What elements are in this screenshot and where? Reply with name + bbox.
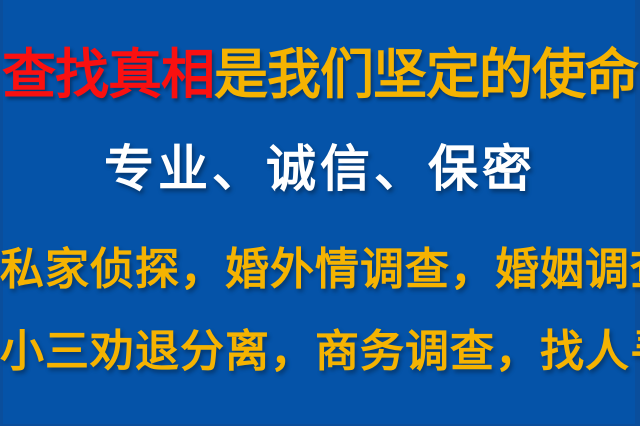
core-values-line: 专业、诚信、保密	[0, 144, 640, 194]
headline: 查找真相是我们坚定的使命	[0, 48, 640, 102]
headline-emphasis: 查找真相	[2, 43, 214, 106]
headline-remainder: 是我们坚定的使命	[214, 43, 638, 106]
services-line-1: 私家侦探，婚外情调查，婚姻调查，	[0, 248, 640, 292]
services-line-2: 小三劝退分离，商务调查，找人寻人	[0, 330, 640, 374]
advertisement-banner: 查找真相是我们坚定的使命 专业、诚信、保密 私家侦探，婚外情调查，婚姻调查， 小…	[0, 0, 640, 426]
